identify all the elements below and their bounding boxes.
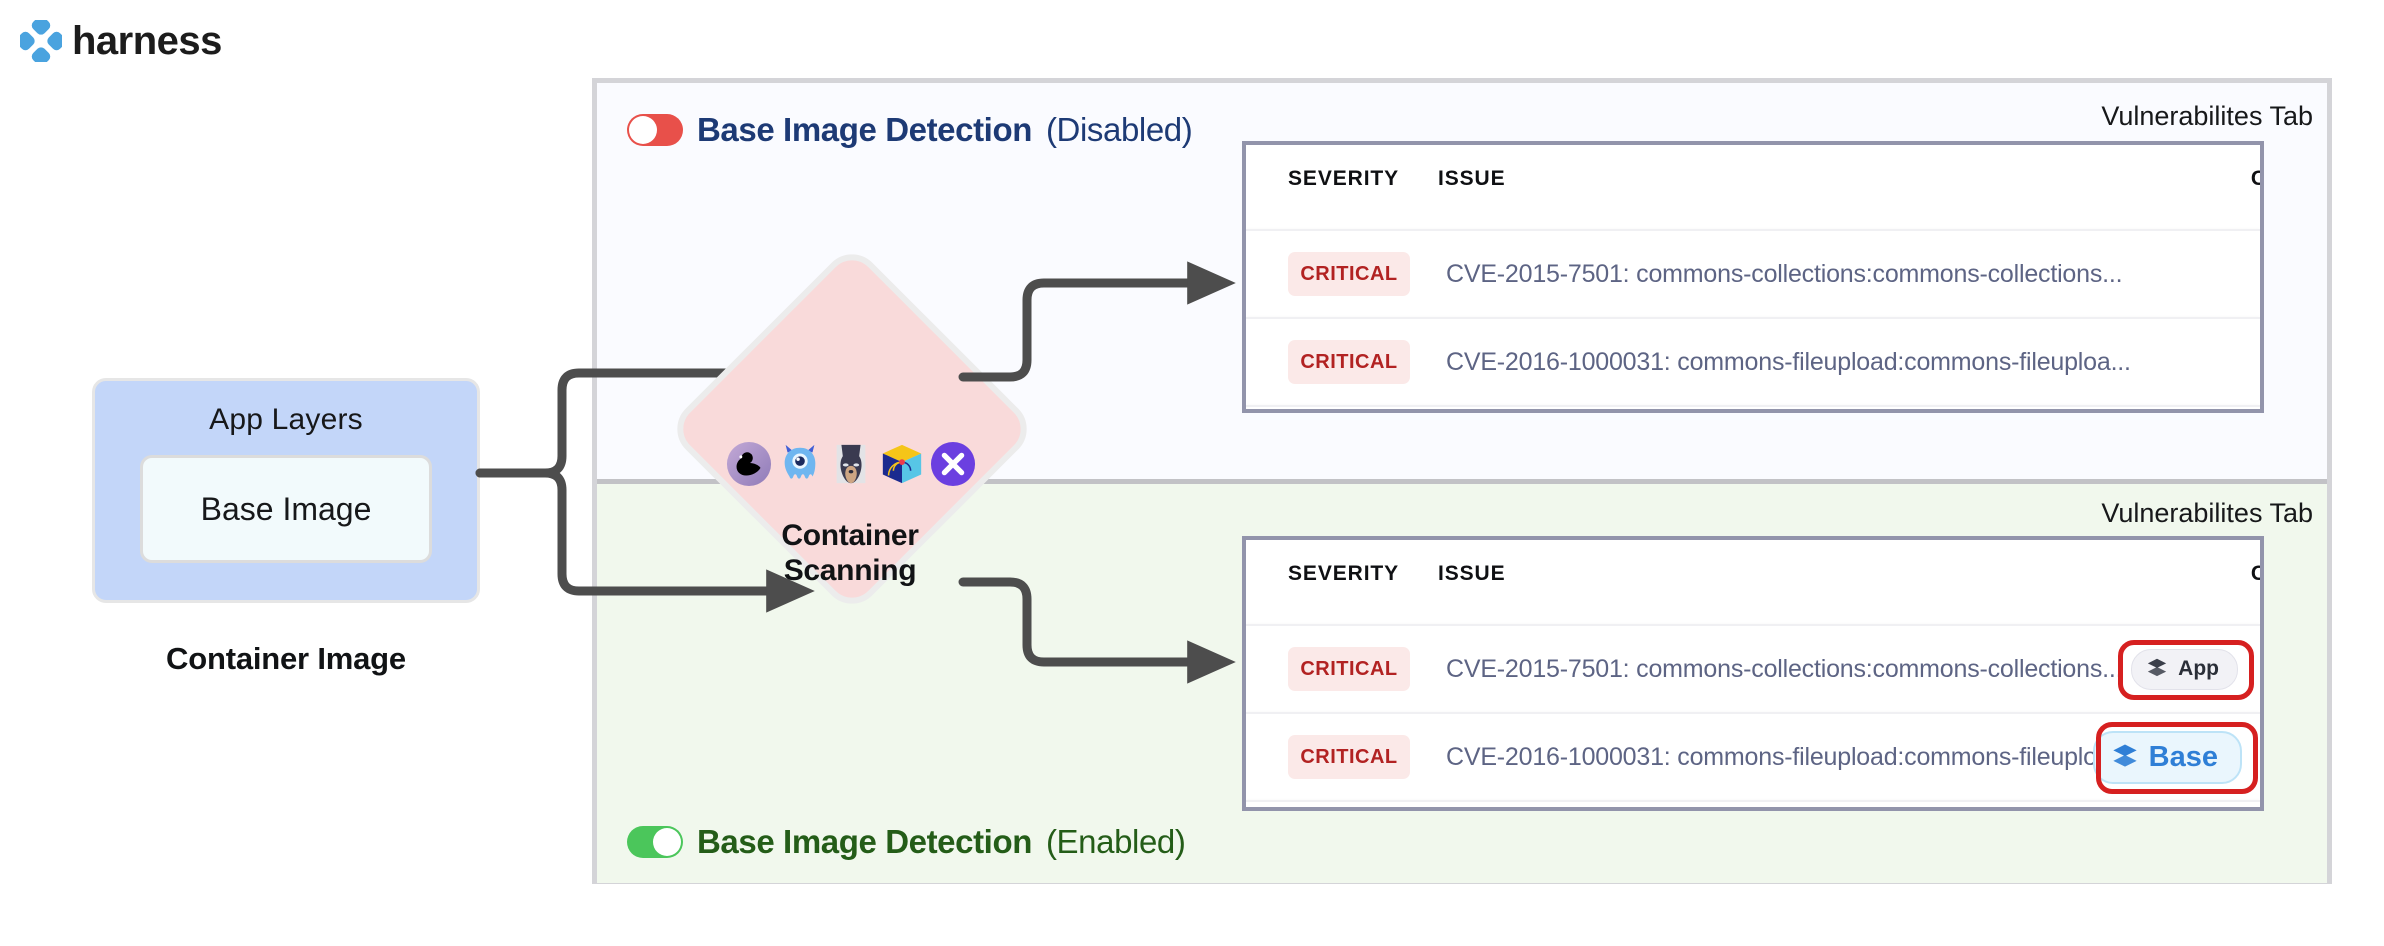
table-header-row: SEVERITY ISSUE C <box>1246 145 2260 229</box>
table-row[interactable]: CRITICAL CVE-2015-7501: commons-collecti… <box>1246 229 2260 317</box>
vulnerabilities-table-disabled: SEVERITY ISSUE C CRITICAL CVE-2015-7501:… <box>1242 141 2264 413</box>
issue-text: CVE-2016-1000031: commons-fileupload:com… <box>1446 743 2131 772</box>
issue-text: CVE-2016-1000031: commons-fileupload:com… <box>1446 348 2131 377</box>
vulnerabilities-tab-label-enabled: Vulnerabilites Tab <box>2101 498 2313 529</box>
app-layers-label: App Layers <box>209 403 363 437</box>
layers-stack-icon <box>2111 741 2139 774</box>
harness-diamond-logo-icon <box>20 20 62 62</box>
toggle-title-enabled: Base Image Detection <box>697 823 1032 861</box>
column-header-severity: SEVERITY <box>1288 562 1438 586</box>
issue-text: CVE-2015-7501: commons-collections:commo… <box>1446 655 2122 684</box>
issue-text: CVE-2015-7501: commons-collections:commo… <box>1446 260 2122 289</box>
base-image-box: Base Image <box>140 455 432 563</box>
table-row-partial[interactable] <box>1246 800 2260 811</box>
scanner-tool-icons <box>726 436 976 492</box>
column-header-severity: SEVERITY <box>1288 167 1438 191</box>
container-scanning-label: Container Scanning <box>742 518 958 589</box>
status-badge: CRITICAL <box>1288 735 1410 779</box>
status-badge: CRITICAL <box>1288 647 1410 691</box>
black-duck-icon <box>726 441 772 487</box>
toggle-row-disabled: Base Image Detection (Disabled) <box>627 111 1192 149</box>
vulnerabilities-table-enabled: SEVERITY ISSUE C CRITICAL CVE-2015-7501:… <box>1242 536 2264 811</box>
status-badge: CRITICAL <box>1288 340 1410 384</box>
table-row[interactable]: CRITICAL CVE-2015-7501: commons-collecti… <box>1246 624 2260 712</box>
column-header-cut-off: C <box>2251 167 2264 191</box>
toggle-title-disabled: Base Image Detection <box>697 111 1032 149</box>
base-image-detection-toggle-off[interactable] <box>627 114 683 146</box>
table-row[interactable]: CRITICAL CVE-2016-1000031: commons-fileu… <box>1246 712 2260 800</box>
layers-stack-icon <box>2146 656 2168 683</box>
diagram-canvas: harness App Layers Base Image Container … <box>0 0 2384 946</box>
column-header-cut-off: C <box>2251 562 2264 586</box>
column-header-issue: ISSUE <box>1438 562 2038 586</box>
container-image-block: App Layers Base Image Container Image <box>92 378 480 677</box>
toggle-state-enabled: (Enabled) <box>1046 823 1186 861</box>
panel-base-image-detection-disabled: Base Image Detection (Disabled) Vulnerab… <box>597 83 2327 479</box>
base-image-detection-toggle-on[interactable] <box>627 826 683 858</box>
toggle-knob <box>629 116 657 144</box>
scanning-title-line1: Container <box>781 519 918 552</box>
status-badge: CRITICAL <box>1288 252 1410 296</box>
layer-badge-label: App <box>2178 657 2219 681</box>
app-layers-box: App Layers Base Image <box>92 378 480 603</box>
layer-badge-label: Base <box>2149 741 2218 774</box>
prisma-cloud-x-icon <box>930 441 976 487</box>
harness-logo: harness <box>20 20 222 62</box>
layer-badge-base[interactable]: Base <box>2093 731 2242 784</box>
table-row[interactable]: CRITICAL CVE-2016-1000031: commons-fileu… <box>1246 317 2260 405</box>
aqua-security-doberman-icon <box>828 441 874 487</box>
layer-badge-app[interactable]: App <box>2131 649 2238 690</box>
column-header-issue: ISSUE <box>1438 167 2038 191</box>
base-image-label: Base Image <box>201 491 372 528</box>
container-image-caption: Container Image <box>92 641 480 677</box>
toggle-knob <box>653 828 681 856</box>
table-header-row: SEVERITY ISSUE C <box>1246 540 2260 624</box>
toggle-row-enabled: Base Image Detection (Enabled) <box>627 823 1185 861</box>
table-row-partial[interactable] <box>1246 405 2260 413</box>
toggle-state-disabled: (Disabled) <box>1046 111 1192 149</box>
brand-name: harness <box>72 21 222 61</box>
scanning-title-line2: Scanning <box>784 554 917 587</box>
snyk-monster-icon <box>777 441 823 487</box>
trivy-cube-icon <box>879 441 925 487</box>
vulnerabilities-tab-label-disabled: Vulnerabilites Tab <box>2101 101 2313 132</box>
